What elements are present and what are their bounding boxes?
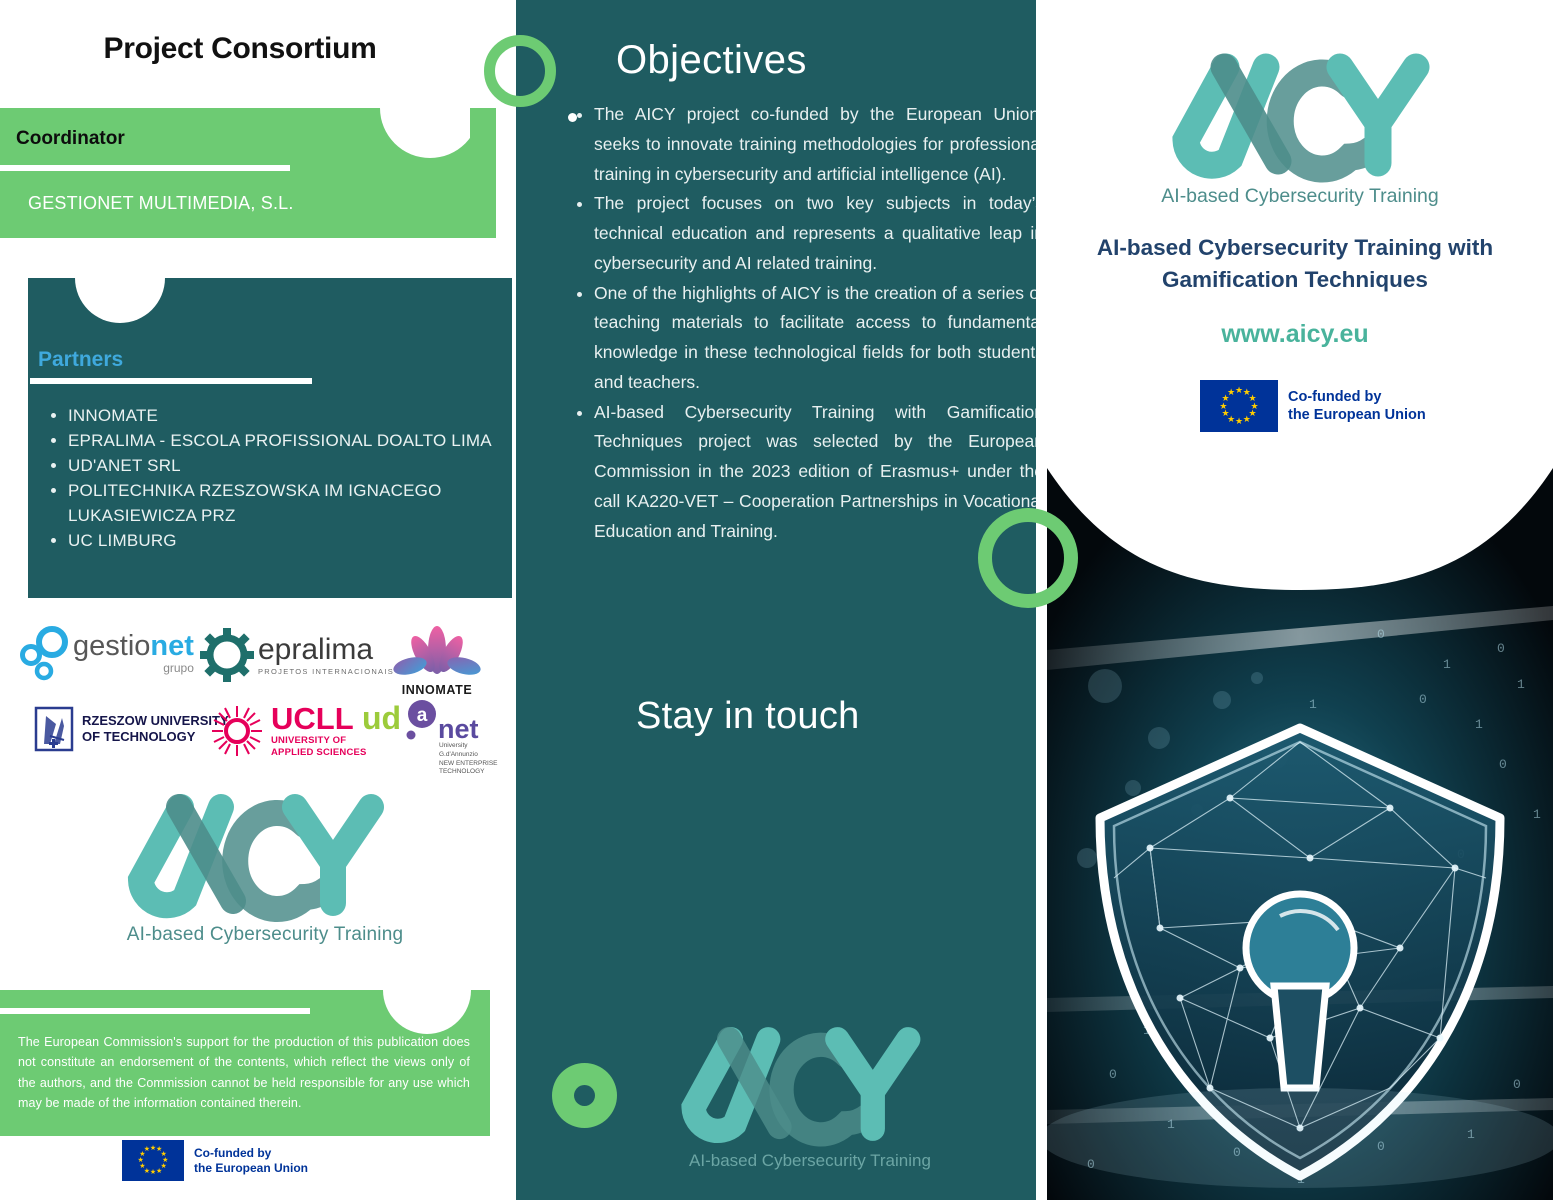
udanet-sub-3: TECHNOLOGY [439, 768, 498, 777]
partners-list: INNOMATEEPRALIMA - ESCOLA PROFISSIONAL D… [42, 404, 516, 554]
aicy-logo-middle: AI-based Cybersecurity Training [660, 1018, 960, 1190]
svg-text:a: a [417, 705, 428, 726]
disclaimer-text: The European Commission's support for th… [18, 1032, 470, 1113]
eu-funding-badge-left: ★★★★★★★★★★★★ Co-funded by the European U… [122, 1140, 308, 1181]
eu-star: ★ [142, 1145, 151, 1154]
disclaimer-divider [0, 1008, 310, 1014]
epralima-text: epralima [258, 635, 394, 665]
udanet-text-2: net [438, 716, 479, 743]
svg-text:1: 1 [1443, 657, 1451, 672]
gestionet-mark-icon [18, 626, 70, 682]
shield-illustration: 010 011 100 110 010 010 101 [1047, 438, 1553, 1200]
svg-text:0: 0 [1497, 641, 1505, 656]
website-url[interactable]: www.aicy.eu [1055, 320, 1535, 349]
innomate-logo: INNOMATE [392, 624, 482, 697]
udanet-text-1: ud [362, 702, 401, 734]
aicy-wordmark-icon [660, 1018, 940, 1150]
aicy-logo-right: AI-based Cybersecurity Training [1150, 40, 1450, 215]
eu-funding-line-2: the European Union [194, 1161, 308, 1176]
rzeszow-text-2: OF TECHNOLOGY [82, 729, 229, 745]
svg-text:0: 0 [1513, 1077, 1521, 1092]
coordinator-divider [0, 165, 290, 171]
svg-text:1: 1 [1475, 717, 1483, 732]
svg-text:1: 1 [1517, 677, 1525, 692]
ucll-sub-2: APPLIED SCIENCES [271, 747, 367, 758]
eu-funding-line-1: Co-funded by [194, 1146, 308, 1161]
svg-text:0: 0 [1377, 627, 1385, 642]
stay-in-touch-title: Stay in touch [636, 695, 860, 738]
innomate-lotus-icon [392, 624, 482, 680]
ucll-sub-1: UNIVERSITY OF [271, 735, 367, 746]
objective-item: One of the highlights of AICY is the cre… [594, 279, 1036, 398]
brochure-page: Project Consortium Coordinator GESTIONET… [0, 0, 1553, 1200]
left-panel: Project Consortium Coordinator GESTIONET… [0, 0, 516, 1200]
objectives-title: Objectives [616, 38, 807, 83]
cyber-shield-image: 010 011 100 110 010 010 101 [1047, 438, 1553, 1200]
innomate-text: INNOMATE [392, 683, 482, 697]
aicy-tagline-middle: AI-based Cybersecurity Training [660, 1151, 960, 1171]
partners-label: Partners [38, 348, 123, 372]
epralima-logo: epralima PROJETOS INTERNACIONAIS [200, 628, 394, 682]
green-ring-decoration-top [484, 35, 556, 107]
partner-list-item: POLITECHNIKA RZESZOWSKA IM IGNACEGO LUKA… [68, 479, 516, 529]
udanet-a-icon: a [402, 699, 442, 741]
partners-divider [30, 378, 312, 384]
svg-text:0: 0 [1109, 1067, 1117, 1082]
eu-star: ★ [1242, 415, 1251, 424]
gestionet-sub: grupo [73, 661, 194, 677]
partner-list-item: UC LIMBURG [68, 529, 516, 554]
eu-funding-line-2: the European Union [1288, 406, 1426, 424]
eu-star: ★ [1235, 417, 1244, 426]
page-title: Project Consortium [0, 32, 480, 66]
green-ring-decoration-middle [978, 508, 1078, 608]
gestionet-logo: gestionet grupo [18, 626, 194, 682]
gestionet-text-bold: net [150, 630, 194, 662]
eu-star: ★ [1221, 409, 1230, 418]
eu-funding-badge-right: ★★★★★★★★★★★★ Co-funded by the European U… [1200, 380, 1426, 432]
objectives-list: The AICY project co-funded by the Europe… [566, 100, 1036, 546]
partner-list-item: INNOMATE [68, 404, 516, 429]
aicy-tagline-right: AI-based Cybersecurity Training [1150, 185, 1450, 208]
svg-text:1: 1 [1309, 697, 1317, 712]
udanet-sub-1: University G.d'Annunzio [439, 742, 498, 760]
eu-flag-icon: ★★★★★★★★★★★★ [122, 1140, 184, 1181]
ucll-logo: UCLL UNIVERSITY OF APPLIED SCIENCES [208, 704, 367, 758]
eu-flag-icon: ★★★★★★★★★★★★ [1200, 380, 1278, 432]
green-dot-decoration [552, 1063, 617, 1128]
coordinator-value: GESTIONET MULTIMEDIA, S.L. [28, 193, 294, 214]
rzeszow-crest-icon [34, 706, 74, 752]
objective-item: AI-based Cybersecurity Training with Gam… [594, 398, 1036, 547]
rzeszow-text-1: RZESZOW UNIVERSITY [82, 713, 229, 729]
objective-item: The AICY project co-funded by the Europe… [594, 100, 1036, 189]
epralima-sub: PROJETOS INTERNACIONAIS [258, 667, 394, 676]
partner-list-item: EPRALIMA - ESCOLA PROFISSIONAL DOALTO LI… [68, 429, 516, 454]
aicy-wordmark-icon [1150, 40, 1450, 190]
rzeszow-university-logo: RZESZOW UNIVERSITY OF TECHNOLOGY [34, 706, 229, 752]
udanet-sub-2: NEW ENTERPRISE [439, 760, 498, 769]
gestionet-text: gestio [73, 630, 150, 662]
aicy-logo: AI-based Cybersecurity Training [105, 785, 425, 965]
epralima-gear-icon [200, 628, 254, 682]
udanet-logo: ud a net University G.d'Annunzio NEW ENT… [362, 702, 498, 760]
objective-item: The project focuses on two key subjects … [594, 189, 1036, 278]
coordinator-label: Coordinator [16, 128, 125, 150]
brochure-title: AI-based Cybersecurity Training with Gam… [1055, 232, 1535, 295]
partner-logos-grid: gestionet grupo [10, 618, 500, 763]
svg-text:0: 0 [1499, 757, 1507, 772]
aicy-tagline: AI-based Cybersecurity Training [105, 924, 425, 946]
svg-text:1: 1 [1533, 807, 1541, 822]
eu-star: ★ [1219, 402, 1228, 411]
ucll-text: UCLL [271, 704, 367, 733]
aicy-wordmark-icon [105, 785, 405, 925]
ucll-burst-icon [208, 704, 266, 758]
eu-star: ★ [1227, 388, 1236, 397]
green-square-decoration [470, 108, 496, 138]
svg-text:0: 0 [1419, 692, 1427, 707]
white-dot-decoration [568, 113, 577, 122]
partner-list-item: UD'ANET SRL [68, 454, 516, 479]
eu-funding-line-1: Co-funded by [1288, 388, 1426, 406]
